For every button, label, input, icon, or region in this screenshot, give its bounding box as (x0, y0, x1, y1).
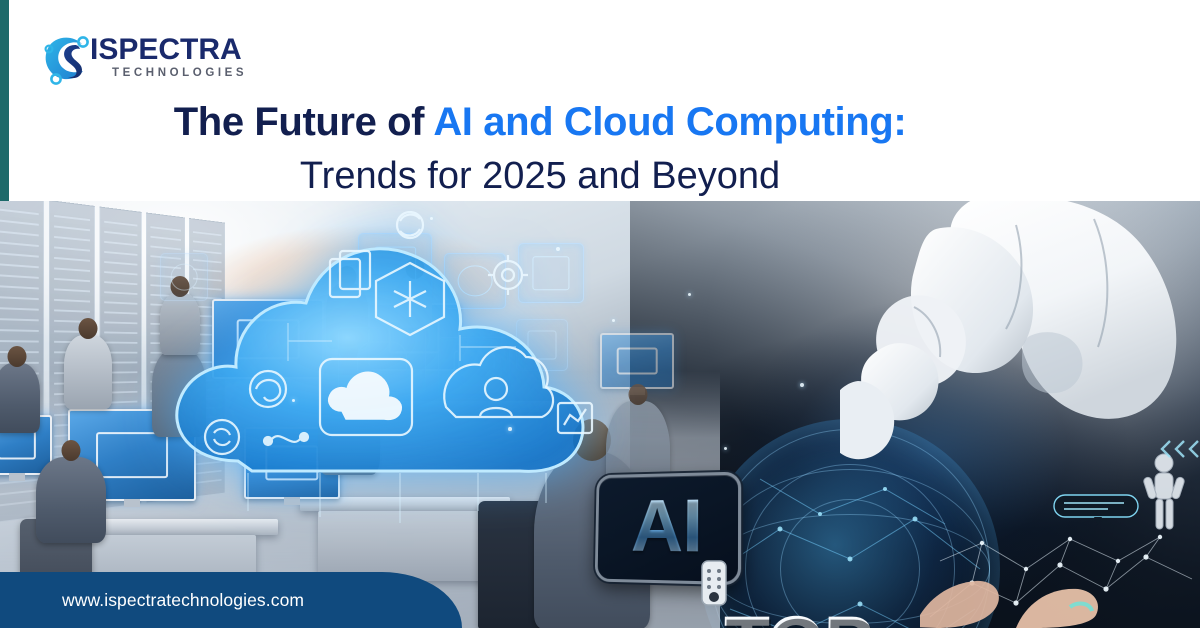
brand-name: ISPECTRA (90, 34, 242, 66)
page-title-part-blue: AI and Cloud Computing: (433, 100, 906, 144)
desktop-monitor (600, 333, 674, 389)
page-title-line-1: The Future of AI and Cloud Computing: (0, 98, 1080, 146)
ai-badge-label: AI (631, 489, 702, 568)
left-accent-bar (0, 0, 9, 201)
page-title-line-2: Trends for 2025 and Beyond (0, 152, 1080, 200)
banner-header: ISPECTRA TECHNOLOGIES The Future of AI a… (0, 0, 1200, 201)
trends-line-1: TOP TRENDS (721, 605, 1164, 628)
ispectra-s-network-logo-icon (42, 32, 96, 88)
top-trends-headline: TOP TRENDS 2025 (720, 605, 1200, 628)
brand-logo[interactable]: ISPECTRA TECHNOLOGIES (42, 30, 242, 92)
brand-tagline: TECHNOLOGIES (112, 67, 247, 79)
robot-hand-icon (840, 201, 1200, 525)
blog-banner: AI (0, 0, 1200, 628)
hud-tag-icon (1054, 495, 1138, 525)
footer-bar: www.ispectratechnologies.com (0, 572, 462, 628)
page-title-part-dark: The Future of (174, 100, 434, 144)
hero-image: AI (0, 201, 1200, 628)
glowing-cloud-icon (160, 211, 600, 541)
page-title: The Future of AI and Cloud Computing: Tr… (0, 98, 1080, 200)
website-url[interactable]: www.ispectratechnologies.com (62, 590, 304, 611)
